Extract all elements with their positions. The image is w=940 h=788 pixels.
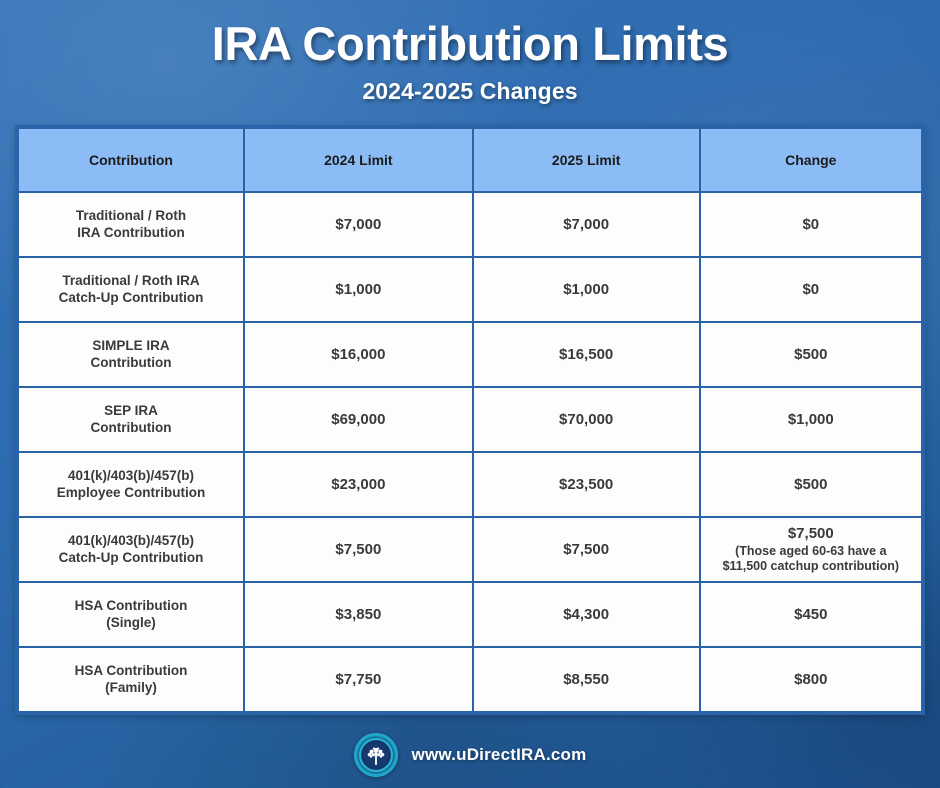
table-row: 401(k)/403(b)/457(b) Employee Contributi… (18, 452, 922, 517)
cell-change: $500 (700, 452, 922, 517)
row-label: HSA Contribution (Single) (18, 582, 244, 647)
cell-2024-limit: $1,000 (244, 257, 473, 322)
cell-2025-limit: $16,500 (473, 322, 700, 387)
cell-change: $500 (700, 322, 922, 387)
site-url-label: www.uDirectIRA.com (412, 745, 587, 765)
row-label-line1: Traditional / Roth IRA (62, 273, 199, 288)
cell-2024-limit: $3,850 (244, 582, 473, 647)
table-row: HSA Contribution (Family) $7,750 $8,550 … (18, 647, 922, 712)
cell-change: $7,500 (Those aged 60-63 have a $11,500 … (700, 517, 922, 582)
row-label-line2: Catch-Up Contribution (59, 550, 204, 565)
row-label-line2: Employee Contribution (57, 485, 206, 500)
row-label: Traditional / Roth IRA Contribution (18, 192, 244, 257)
cell-2024-limit: $7,500 (244, 517, 473, 582)
row-label: SEP IRA Contribution (18, 387, 244, 452)
row-label: Traditional / Roth IRA Catch-Up Contribu… (18, 257, 244, 322)
row-label: 401(k)/403(b)/457(b) Catch-Up Contributi… (18, 517, 244, 582)
cell-change: $450 (700, 582, 922, 647)
column-header-2024-limit: 2024 Limit (244, 128, 473, 192)
cell-change-note-line1: (Those aged 60-63 have a (707, 544, 915, 559)
cell-2025-limit: $7,500 (473, 517, 700, 582)
cell-2024-limit: $16,000 (244, 322, 473, 387)
column-header-change: Change (700, 128, 922, 192)
column-header-contribution: Contribution (18, 128, 244, 192)
row-label: SIMPLE IRA Contribution (18, 322, 244, 387)
page-subtitle: 2024-2025 Changes (362, 78, 577, 105)
cell-2024-limit: $7,000 (244, 192, 473, 257)
table-row: HSA Contribution (Single) $3,850 $4,300 … (18, 582, 922, 647)
cell-2024-limit: $7,750 (244, 647, 473, 712)
row-label: HSA Contribution (Family) (18, 647, 244, 712)
cell-2025-limit: $4,300 (473, 582, 700, 647)
column-header-2025-limit: 2025 Limit (473, 128, 700, 192)
table-row: 401(k)/403(b)/457(b) Catch-Up Contributi… (18, 517, 922, 582)
cell-2025-limit: $7,000 (473, 192, 700, 257)
row-label-line2: Catch-Up Contribution (59, 290, 204, 305)
cell-2025-limit: $1,000 (473, 257, 700, 322)
row-label-line2: (Family) (105, 680, 157, 695)
row-label: 401(k)/403(b)/457(b) Employee Contributi… (18, 452, 244, 517)
table-row: SEP IRA Contribution $69,000 $70,000 $1,… (18, 387, 922, 452)
page-title: IRA Contribution Limits (212, 18, 728, 70)
cell-2024-limit: $69,000 (244, 387, 473, 452)
cell-2024-limit: $23,000 (244, 452, 473, 517)
row-label-line2: Contribution (91, 420, 172, 435)
tree-logo-icon (354, 733, 398, 777)
cell-change: $0 (700, 257, 922, 322)
row-label-line1: SEP IRA (104, 403, 158, 418)
table-row: Traditional / Roth IRA Catch-Up Contribu… (18, 257, 922, 322)
row-label-line2: IRA Contribution (77, 225, 184, 240)
table-row: SIMPLE IRA Contribution $16,000 $16,500 … (18, 322, 922, 387)
cell-change: $0 (700, 192, 922, 257)
infographic-page: IRA Contribution Limits 2024-2025 Change… (0, 0, 940, 788)
footer: www.uDirectIRA.com (354, 733, 587, 777)
contribution-limits-table: Contribution 2024 Limit 2025 Limit Chang… (15, 125, 925, 715)
cell-2025-limit: $70,000 (473, 387, 700, 452)
cell-change: $800 (700, 647, 922, 712)
cell-2025-limit: $8,550 (473, 647, 700, 712)
row-label-line1: SIMPLE IRA (92, 338, 169, 353)
row-label-line1: HSA Contribution (75, 598, 188, 613)
table-row: Traditional / Roth IRA Contribution $7,0… (18, 192, 922, 257)
row-label-line1: Traditional / Roth (76, 208, 186, 223)
row-label-line1: 401(k)/403(b)/457(b) (68, 468, 194, 483)
cell-change-amount: $7,500 (788, 525, 834, 542)
cell-change-note-line2: $11,500 catchup contribution) (707, 559, 915, 574)
cell-2025-limit: $23,500 (473, 452, 700, 517)
table-header-row: Contribution 2024 Limit 2025 Limit Chang… (18, 128, 922, 192)
row-label-line2: Contribution (91, 355, 172, 370)
row-label-line1: HSA Contribution (75, 663, 188, 678)
cell-change: $1,000 (700, 387, 922, 452)
row-label-line1: 401(k)/403(b)/457(b) (68, 533, 194, 548)
row-label-line2: (Single) (106, 615, 156, 630)
